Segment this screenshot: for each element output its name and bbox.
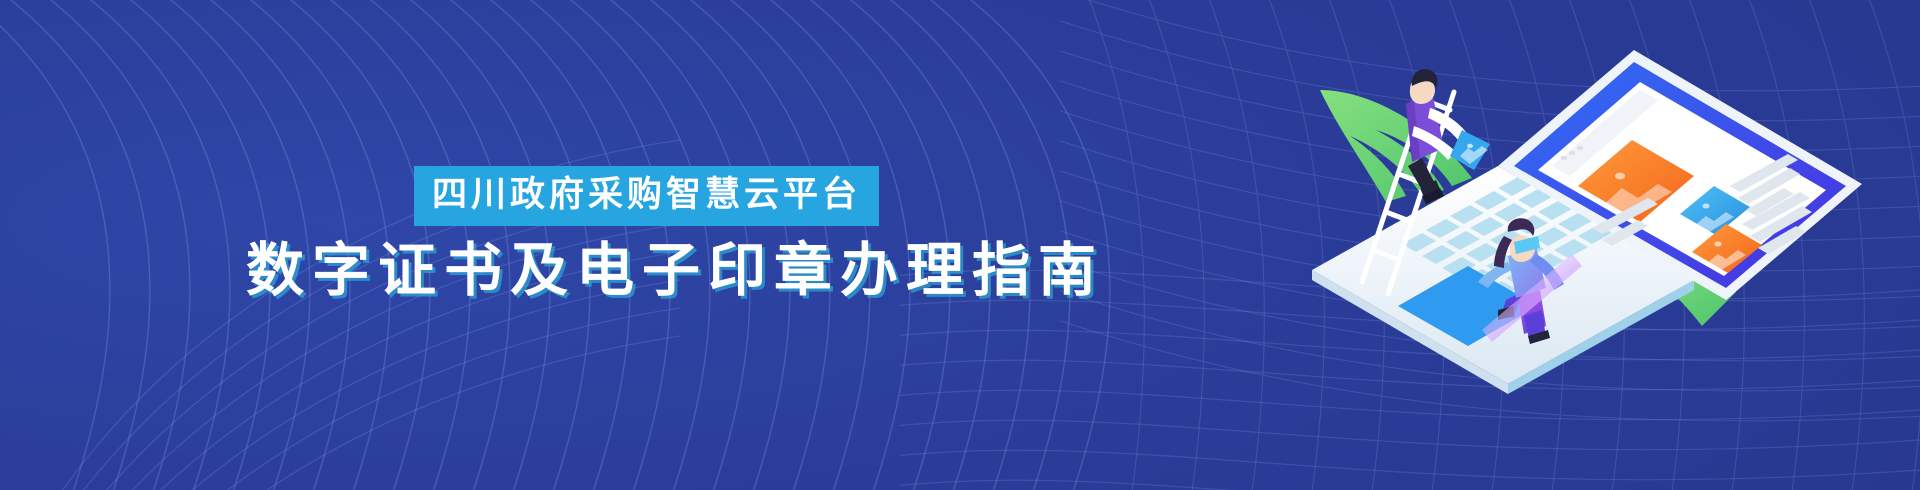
text-block: 四川政府采购智慧云平台 数字证书及电子印章办理指南 [246, 166, 1026, 303]
platform-badge: 四川政府采购智慧云平台 [414, 166, 879, 226]
illustration [1302, 38, 1862, 338]
page-title: 数字证书及电子印章办理指南 [246, 238, 1026, 303]
banner-root: 四川政府采购智慧云平台 数字证书及电子印章办理指南 [0, 0, 1920, 490]
